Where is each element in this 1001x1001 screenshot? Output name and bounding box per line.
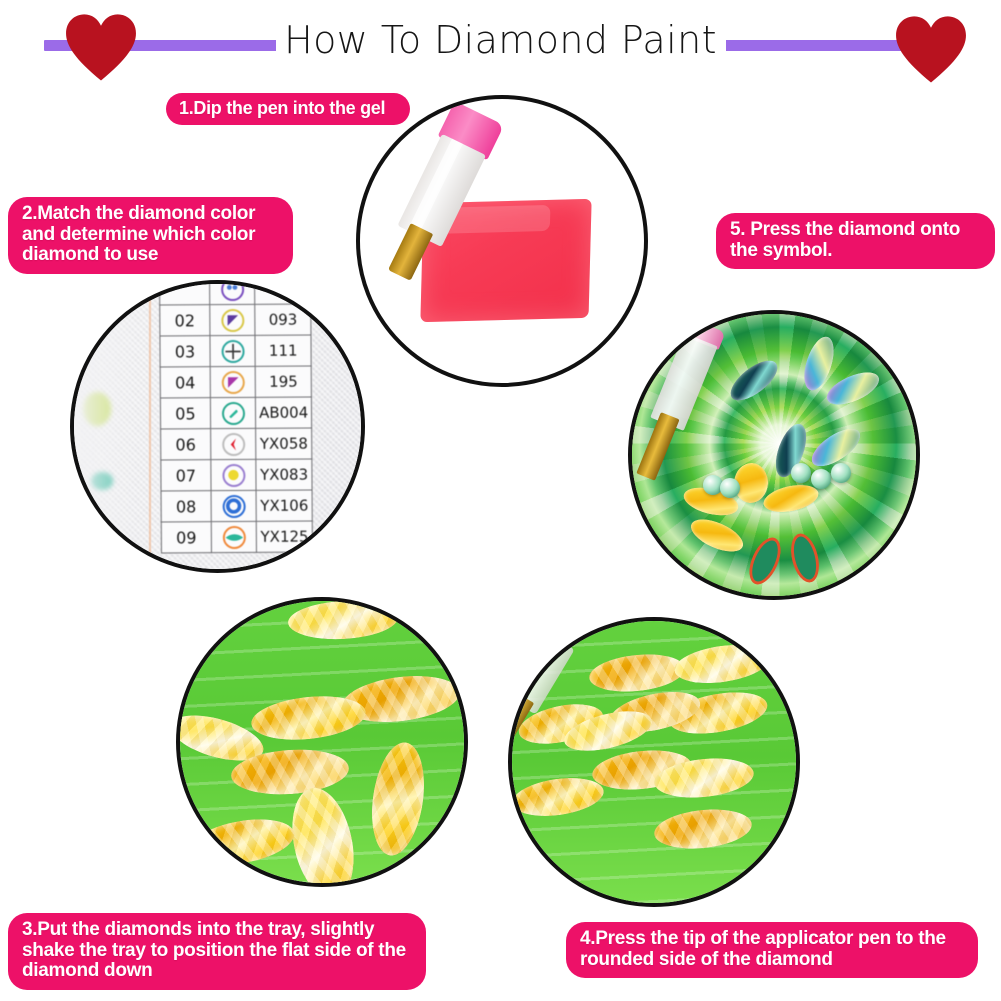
step-2-photo: 02802093031110419505AB00406YX05807YX0830… — [70, 280, 365, 573]
color-chart-index — [160, 280, 210, 305]
color-chart-code: YX106 — [256, 490, 312, 521]
page-title: How To Diamond Paint — [0, 18, 1001, 62]
color-chart-index: 06 — [161, 428, 211, 459]
step-2-label: 2.Match the diamond color and determine … — [8, 197, 293, 274]
color-chart-code: AB004 — [256, 397, 312, 428]
color-chart-row: 05AB004 — [160, 397, 311, 429]
infographic-page: How To Diamond Paint 1.Dip the pen into … — [0, 0, 1001, 1001]
color-chart-code: 111 — [255, 335, 311, 366]
color-chart-index: 05 — [160, 397, 210, 428]
color-chart-row: 04195 — [160, 366, 311, 398]
page-header: How To Diamond Paint — [0, 0, 1001, 90]
round-gem — [811, 469, 831, 489]
step-5-label: 5. Press the diamond onto the symbol. — [716, 213, 995, 269]
color-chart-symbol — [210, 397, 256, 428]
blurred-symbol — [83, 392, 111, 426]
color-chart-symbol — [211, 428, 257, 459]
color-chart-index: 04 — [160, 366, 210, 397]
color-chart-row: 09YX125 — [161, 521, 312, 553]
color-chart-row: 028 — [160, 280, 311, 305]
color-chart-row: 03111 — [160, 335, 311, 367]
color-chart-symbol — [210, 304, 256, 335]
color-chart-index: 07 — [161, 459, 211, 490]
color-chart-photo: 02802093031110419505AB00406YX05807YX0830… — [74, 284, 361, 569]
step-3-label: 3.Put the diamonds into the tray, slight… — [8, 913, 426, 990]
color-chart-code: YX058 — [256, 428, 312, 459]
pen-tip — [636, 412, 680, 481]
gel-pad-photo — [360, 99, 644, 383]
color-chart-row: 08YX106 — [161, 490, 312, 522]
color-symbol-table-body: 02802093031110419505AB00406YX05807YX0830… — [160, 280, 313, 553]
color-chart-index: 03 — [160, 335, 210, 366]
color-chart-code: YX083 — [256, 459, 312, 490]
step-1-label: 1.Dip the pen into the gel — [166, 93, 410, 125]
color-chart-row: 06YX058 — [161, 428, 312, 460]
color-chart-index: 09 — [161, 521, 211, 552]
color-chart-symbol — [210, 335, 256, 366]
color-chart-code: 195 — [255, 366, 311, 397]
color-chart-symbol — [211, 490, 257, 521]
color-chart-code: 093 — [255, 304, 311, 335]
color-chart-row: 02093 — [160, 304, 311, 336]
round-gem — [720, 478, 740, 498]
color-chart-row: 07YX083 — [161, 459, 312, 491]
color-chart-symbol — [211, 459, 257, 490]
mandala-canvas-photo — [632, 314, 916, 596]
pen-pickup-photo — [512, 621, 796, 903]
color-symbol-table: 02802093031110419505AB00406YX05807YX0830… — [159, 280, 313, 553]
color-chart-symbol — [211, 521, 257, 552]
step-4-photo — [508, 617, 800, 907]
color-chart-index: 08 — [161, 490, 211, 521]
chart-edge-line — [149, 284, 151, 569]
step-5-photo — [628, 310, 920, 600]
color-chart-code: 028 — [255, 280, 311, 304]
diamond-tray-photo — [180, 601, 464, 883]
step-4-label: 4.Press the tip of the applicator pen to… — [566, 922, 978, 978]
color-chart-symbol — [210, 366, 256, 397]
pen-tip — [388, 223, 434, 281]
color-chart-index: 02 — [160, 304, 210, 335]
color-chart-symbol — [209, 280, 255, 304]
color-chart-code: YX125 — [257, 521, 313, 552]
step-1-photo — [356, 95, 648, 387]
step-3-photo — [176, 597, 468, 887]
